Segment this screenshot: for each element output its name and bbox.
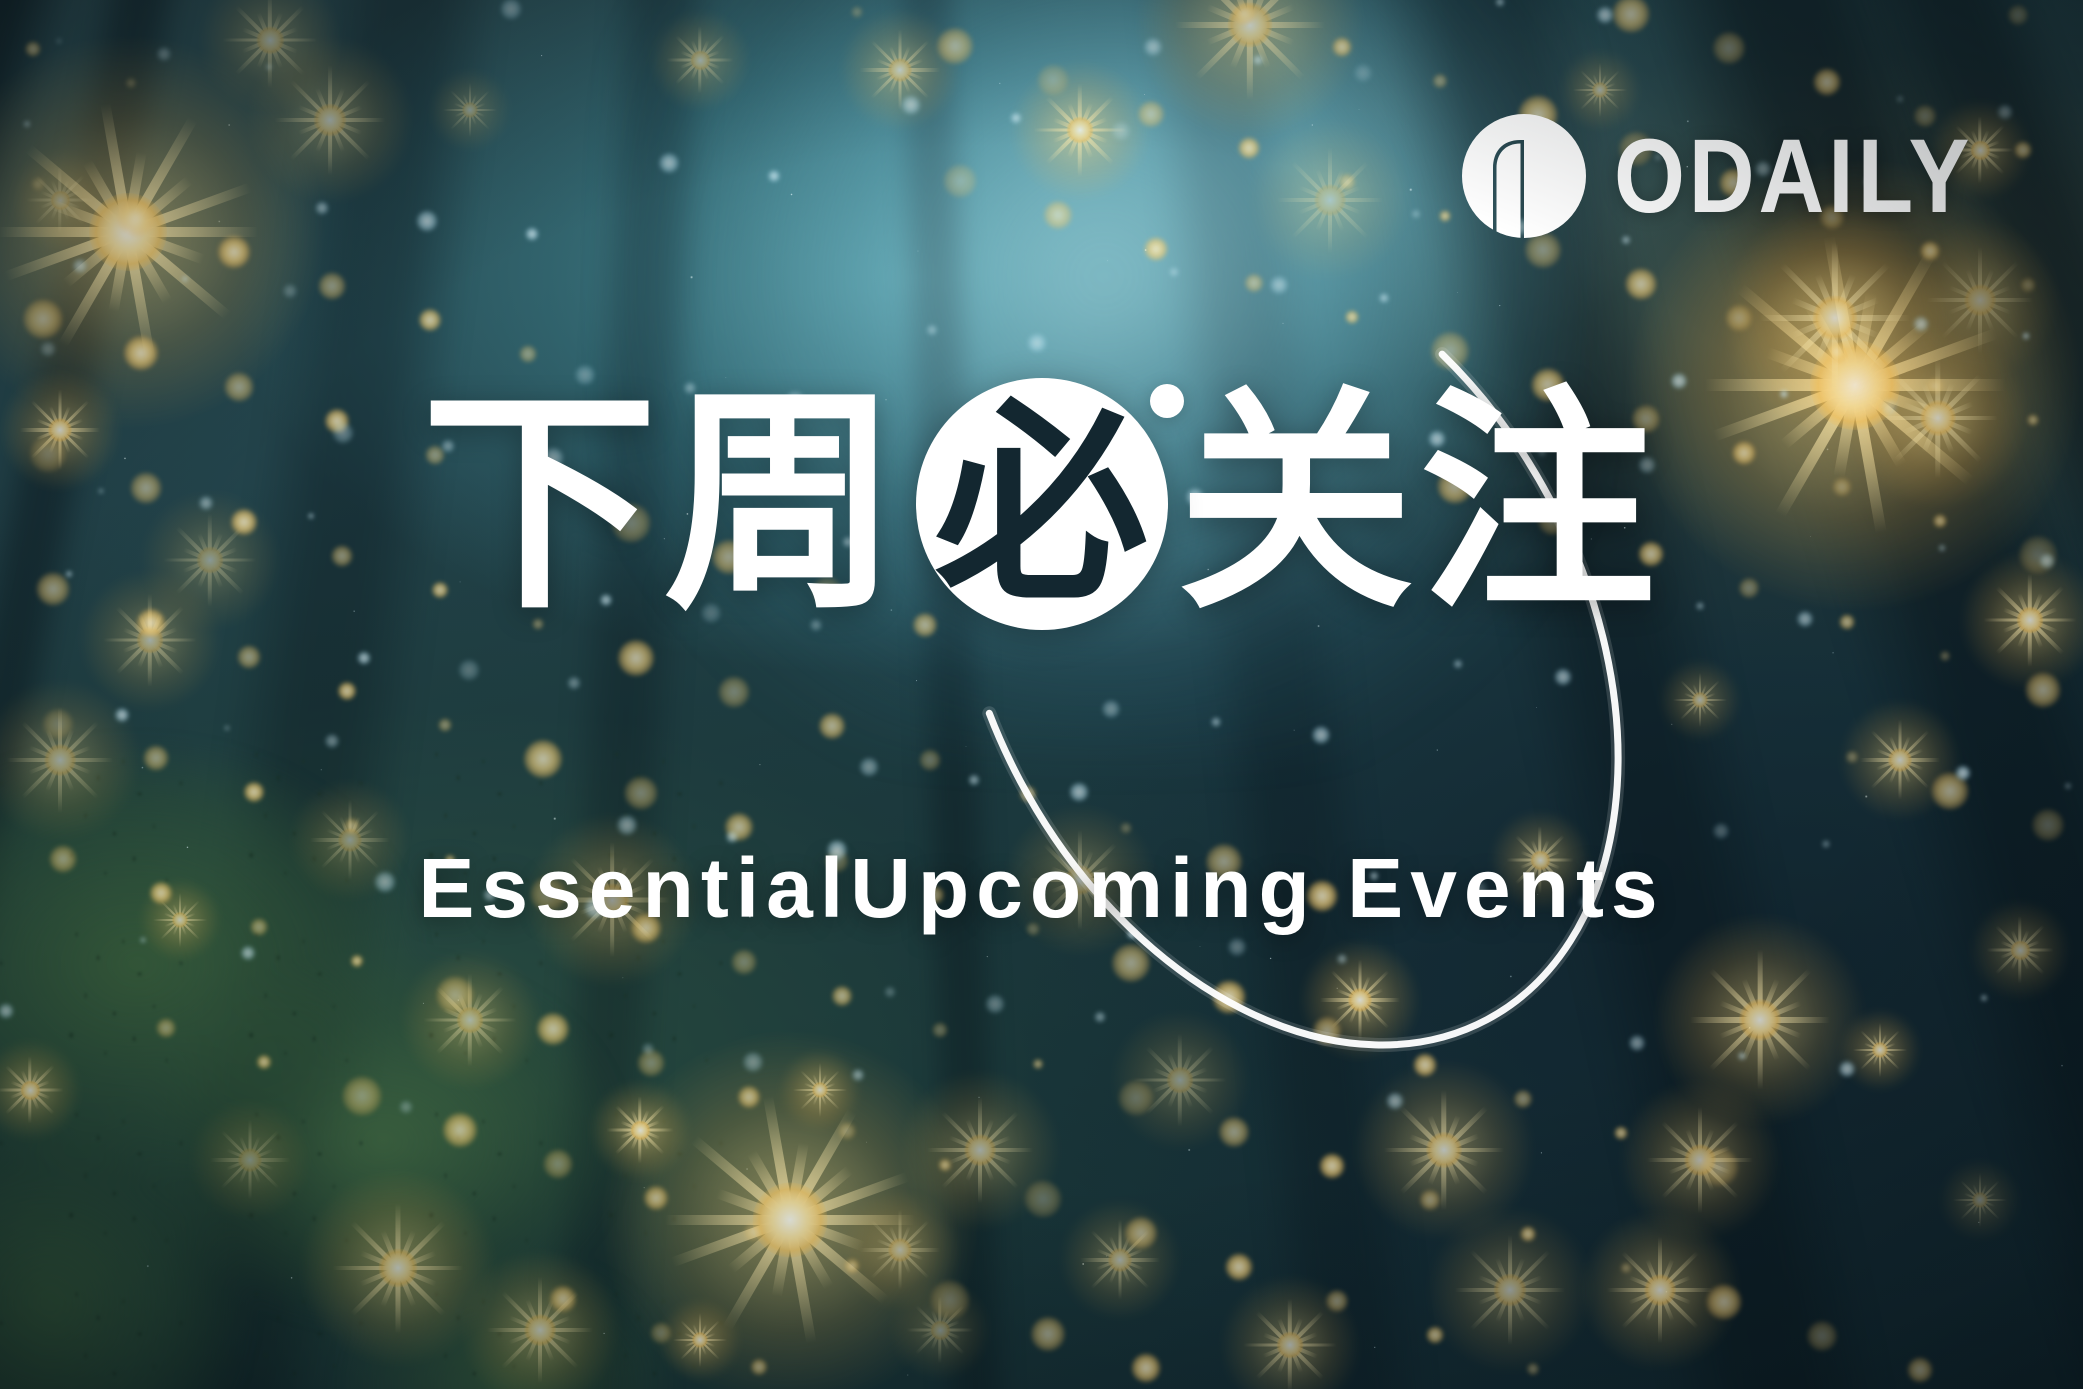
page-title: 下周 必 关注 [0, 378, 2083, 630]
odaily-logo[interactable]: ODAILY [1462, 114, 1985, 238]
headline-row: 下周 必 关注 [421, 378, 1661, 630]
headline-highlight-badge: 必 [916, 378, 1168, 630]
odaily-circle-mark-icon [1462, 114, 1586, 238]
odaily-weekly-events-banner: ODAILY 下周 必 关注 EssentialUpcoming Events [0, 0, 2083, 1389]
headline-highlight-glyph: 必 [935, 399, 1149, 613]
page-subtitle: EssentialUpcoming Events [0, 846, 2083, 930]
headline-part-1: 下周 [421, 384, 905, 625]
accent-dot-small [1150, 384, 1184, 418]
headline-part-2: 关注 [1178, 384, 1662, 625]
odaily-wordmark: ODAILY [1614, 123, 1973, 228]
